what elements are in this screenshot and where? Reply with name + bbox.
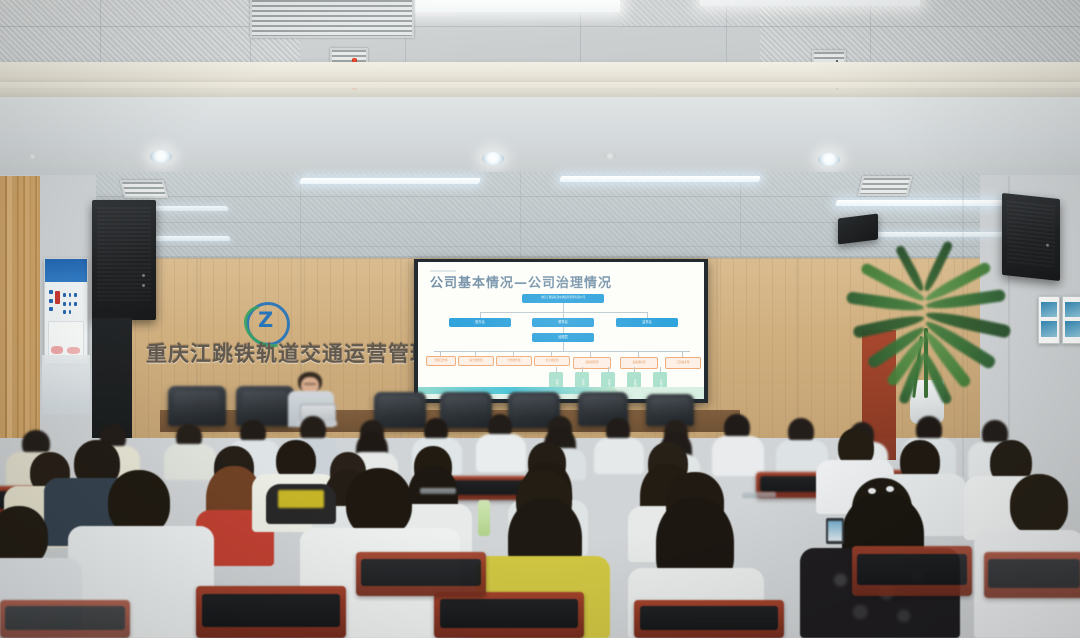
bench-pad	[202, 594, 340, 626]
org-box-dept: 运输管理部	[573, 357, 611, 369]
org-box-level2: 董事会	[532, 318, 594, 327]
person-torso	[164, 444, 216, 480]
phone-screen	[828, 521, 842, 541]
speaker-grill	[1007, 198, 1056, 267]
org-connector	[563, 303, 564, 312]
left-column-dark	[92, 318, 132, 438]
person-head	[1010, 474, 1068, 536]
org-box-top: 重庆江跳铁轨道交通运营管理有限公司	[522, 294, 604, 303]
org-box-label: 股东会	[475, 321, 485, 324]
linear-light-fixture	[559, 176, 761, 182]
audience-bench	[852, 546, 972, 596]
org-connector-bus	[434, 351, 690, 352]
wall-seam	[796, 258, 798, 438]
bench-pad	[440, 599, 578, 628]
person-torso	[712, 436, 764, 476]
poster-image	[1041, 321, 1057, 337]
org-box-dept: 设备维护部	[620, 357, 658, 369]
bench-pad	[988, 559, 1080, 588]
ceiling-grid-line	[100, 0, 101, 62]
smoke-detector	[28, 153, 37, 160]
wall-speaker-left	[92, 200, 156, 320]
org-box-label: 重庆江跳铁轨道交通运营管理有限公司	[541, 297, 585, 300]
stage-ceiling-grid	[520, 172, 521, 262]
presenter-glasses	[304, 383, 316, 385]
poster-highlight	[55, 291, 60, 303]
executive-chair	[168, 386, 226, 426]
ceiling-light-panel	[700, 0, 920, 6]
ceiling-air-vent	[250, 0, 414, 38]
audience-bench	[196, 586, 346, 638]
audience-bench	[356, 552, 486, 596]
desk-ledge	[420, 488, 456, 494]
speaker-led	[1046, 243, 1049, 246]
org-box-label: 计划财务部	[508, 360, 521, 363]
stage-ceiling-grid	[96, 196, 980, 197]
executive-chair	[374, 392, 426, 428]
audience-bench	[434, 592, 584, 638]
ceiling-grid-line	[726, 0, 727, 62]
bench-pad	[640, 606, 778, 630]
slide-title: 公司基本情况—公司治理情况	[430, 272, 612, 291]
poster-text-mark	[69, 310, 72, 314]
org-box-label: 工程技术部	[677, 362, 690, 365]
poster-image	[1065, 321, 1080, 337]
poster-text-mark	[63, 310, 66, 314]
person-torso	[594, 438, 644, 474]
org-box-label: 车站二	[581, 379, 584, 387]
org-box-label: 董事会	[558, 321, 568, 324]
org-box-level2: 股东会	[449, 318, 511, 327]
poster-header-band	[45, 259, 87, 282]
poster-chart-shape	[51, 346, 63, 353]
org-box-label: 安全质量部	[546, 360, 559, 363]
smoke-detector	[604, 152, 616, 160]
org-box-label: 运输管理部	[586, 362, 599, 365]
org-box-dept: 党群工作部	[426, 356, 456, 366]
stage-ceiling-grid	[96, 246, 980, 247]
logo-letter: Z	[258, 308, 273, 332]
audience-bench	[634, 600, 784, 638]
wall-speaker-right	[1002, 193, 1060, 281]
stage-ceiling-vent	[119, 180, 168, 198]
poster-text-mark	[63, 293, 66, 297]
speaker-led	[142, 284, 145, 287]
ceiling-beam-lower	[0, 82, 1080, 98]
bench-pad	[857, 554, 967, 585]
downlight	[818, 153, 840, 166]
poster-stand	[42, 355, 90, 415]
ceiling-grid-line	[0, 26, 1080, 27]
org-box-label: 综合管理部	[470, 360, 483, 363]
org-connector	[563, 342, 564, 351]
executive-chair	[440, 392, 492, 428]
poster-chart-shape	[67, 347, 80, 353]
poster-image	[1065, 302, 1080, 318]
downlight	[150, 150, 172, 163]
hair-clip	[868, 488, 876, 494]
org-box-dept: 计划财务部	[496, 356, 532, 366]
org-box-label: 车站五	[659, 379, 662, 387]
downlight	[482, 152, 504, 165]
org-box-label: 党群工作部	[435, 360, 448, 363]
linear-light-fixture	[299, 178, 481, 184]
upper-soffit	[0, 97, 1080, 175]
org-box-label: 监事会	[642, 321, 652, 324]
conference-room-photo: Z 重庆江跳铁轨道交通运营管理有限公司 公司基本情况—公司治理情况 重庆江跳铁轨…	[0, 0, 1080, 638]
water-bottle	[478, 500, 490, 536]
poster-text-mark	[49, 299, 52, 303]
right-wall-poster-1	[1038, 296, 1060, 344]
audience-bench	[984, 552, 1080, 598]
tee-print	[278, 490, 324, 508]
wall-monitor	[838, 214, 878, 245]
poster-text-mark	[49, 307, 52, 311]
poster-text-mark	[69, 302, 72, 306]
org-box-dept: 工程技术部	[665, 357, 701, 369]
left-wall-poster	[44, 258, 88, 364]
stage-ceiling-grid	[300, 172, 301, 262]
org-box-manager: 经理层	[532, 333, 594, 342]
poster-text-mark	[49, 290, 52, 294]
stage-ceiling-vent	[858, 176, 913, 196]
poster-text-mark	[74, 293, 77, 297]
org-box-dept: 综合管理部	[458, 356, 494, 366]
poster-text-mark	[69, 293, 72, 297]
poster-image	[1041, 302, 1057, 318]
person-torso	[476, 434, 526, 472]
org-box-label: 车站一	[555, 379, 558, 387]
audience-bench	[0, 600, 130, 638]
poster-text-mark	[74, 302, 77, 306]
left-wall-slats	[18, 176, 38, 438]
stage-ceiling-grid	[740, 172, 741, 262]
org-box-level2: 监事会	[616, 318, 678, 327]
org-box-label: 车站三	[607, 379, 610, 387]
org-box-label: 设备维护部	[633, 362, 646, 365]
hair-clip	[886, 486, 894, 492]
org-box-dept: 安全质量部	[534, 356, 570, 366]
ceiling-tile-texture-right	[760, 0, 1080, 70]
poster-text-mark	[63, 302, 66, 306]
bench-pad	[5, 606, 125, 630]
projection-screen: 公司基本情况—公司治理情况 重庆江跳铁轨道交通运营管理有限公司 股东会 董事会 …	[418, 262, 704, 399]
org-box-label: 经理层	[558, 336, 568, 339]
ceiling-grid-line	[870, 0, 871, 62]
org-box-label: 车站四	[633, 379, 636, 387]
right-wall-poster-2	[1062, 296, 1080, 344]
ceiling-light-panel	[408, 0, 620, 12]
desk-ledge	[742, 492, 776, 498]
bench-pad	[361, 559, 481, 586]
